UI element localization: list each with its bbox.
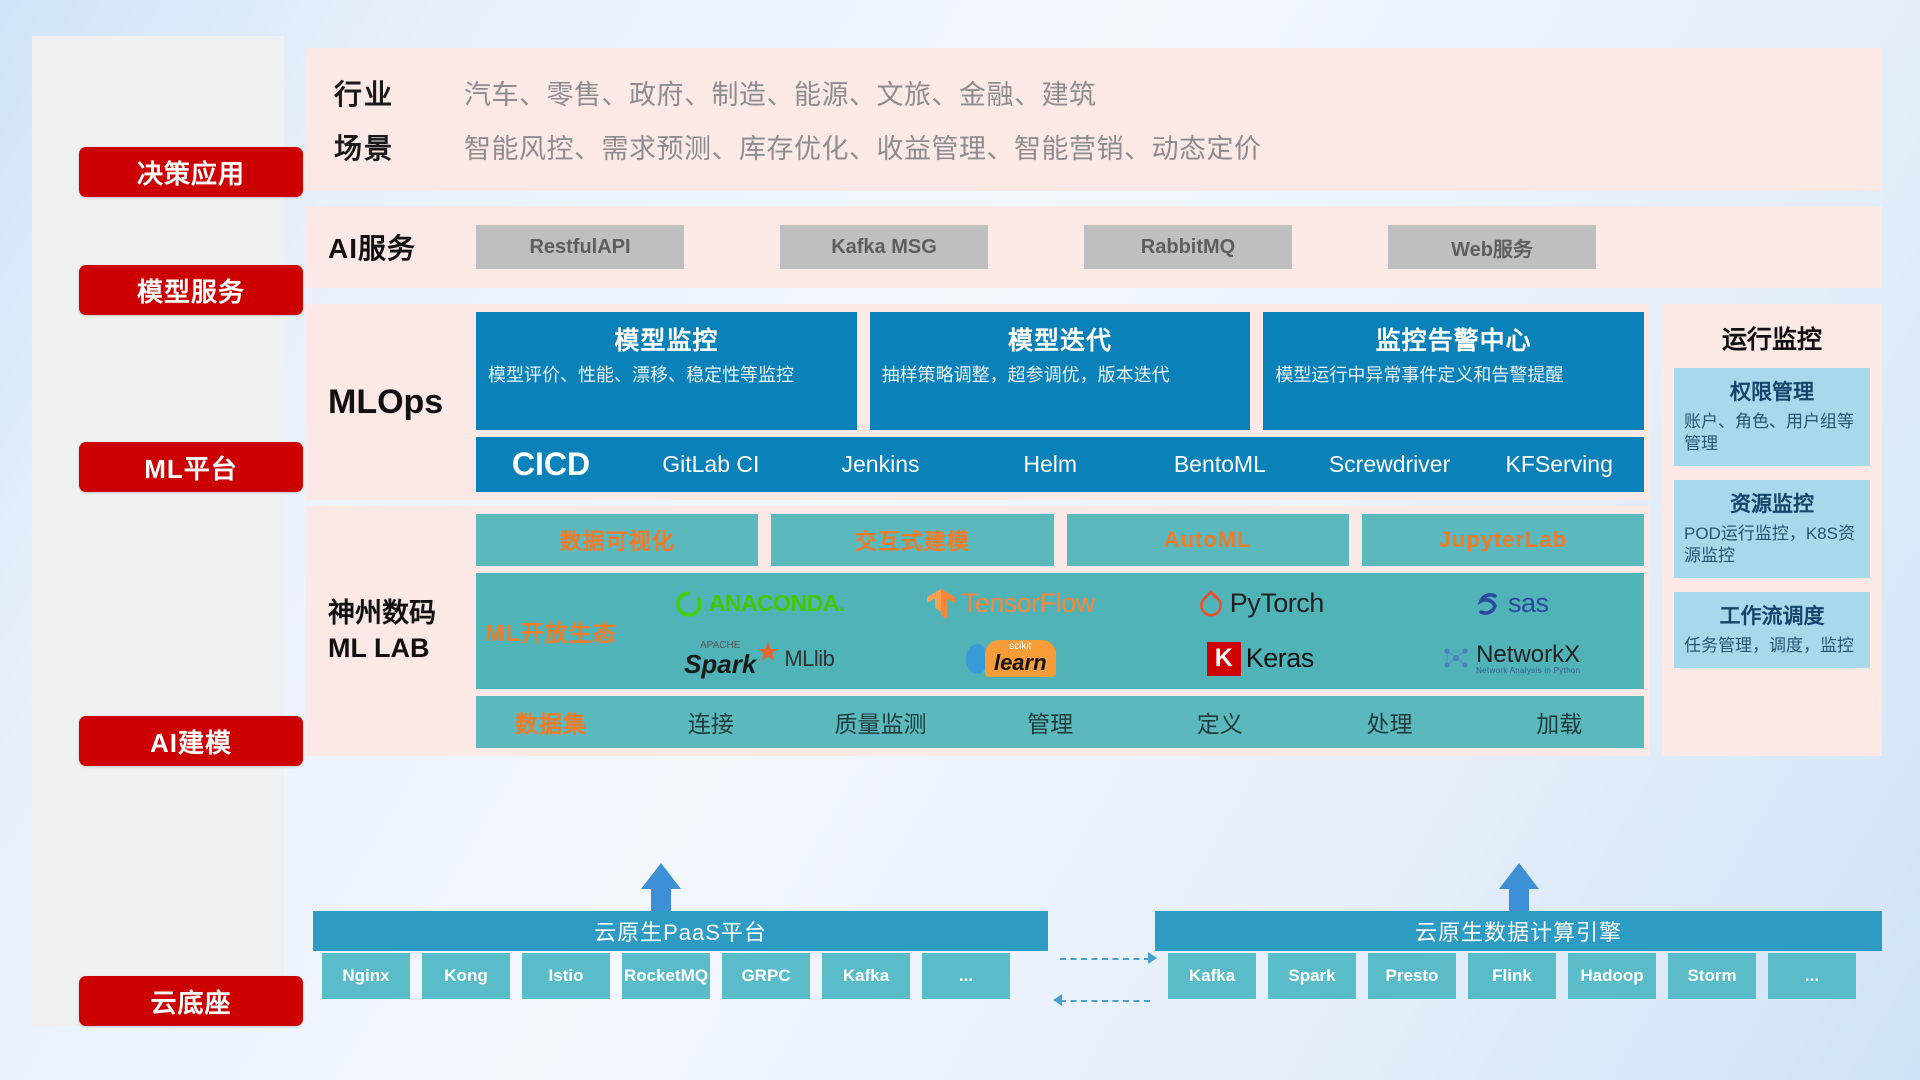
ml-lab-key: 神州数码 ML LAB bbox=[328, 596, 476, 666]
cicd-item-jenkins[interactable]: Jenkins bbox=[796, 452, 966, 476]
keras-logo: K Keras bbox=[1207, 642, 1314, 676]
eco-label: ML开放生态 bbox=[476, 573, 626, 689]
tab-data-visualization[interactable]: 数据可视化 bbox=[476, 514, 758, 566]
card-title: 监控告警中心 bbox=[1376, 321, 1532, 357]
tensorflow-logo: TensorFlow bbox=[925, 587, 1095, 621]
cicd-item-kfserving[interactable]: KFServing bbox=[1474, 452, 1644, 476]
monitoring-card-permission[interactable]: 权限管理 账户、角色、用户组等管理 bbox=[1674, 368, 1870, 466]
card-title: 模型监控 bbox=[614, 321, 718, 357]
dataset-item-process[interactable]: 处理 bbox=[1305, 705, 1475, 739]
ml-lab-content: 数据可视化 交互式建模 AutoML JupyterLab ML开放生态 ANA… bbox=[476, 506, 1650, 756]
paas-tag-more[interactable]: ... bbox=[922, 953, 1010, 999]
ml-lab-band: 神州数码 ML LAB 数据可视化 交互式建模 AutoML JupyterLa… bbox=[306, 506, 1650, 756]
cicd-item-helm[interactable]: Helm bbox=[965, 452, 1135, 476]
ml-lab-key-line1: 神州数码 bbox=[328, 596, 476, 631]
scikit-learn-logo: scikit learn bbox=[964, 640, 1056, 677]
engine-tag-storm[interactable]: Storm bbox=[1668, 953, 1756, 999]
runtime-monitoring-panel: 运行监控 权限管理 账户、角色、用户组等管理 资源监控 POD运行监控，K8S资… bbox=[1662, 304, 1882, 756]
dataset-item-define[interactable]: 定义 bbox=[1135, 705, 1305, 739]
engine-tag-more[interactable]: ... bbox=[1768, 953, 1856, 999]
industry-row: 行业 汽车、零售、政府、制造、能源、文旅、金融、建筑 bbox=[334, 73, 1882, 113]
networkx-logo: NetworkX Network Analysis in Python bbox=[1441, 642, 1580, 676]
card-title: 模型迭代 bbox=[1008, 321, 1112, 357]
engine-tag-flink[interactable]: Flink bbox=[1468, 953, 1556, 999]
connector-right-arrow-icon bbox=[1148, 952, 1157, 964]
industry-key: 行业 bbox=[334, 73, 464, 113]
scenario-key: 场景 bbox=[334, 127, 464, 167]
card-desc: 模型评价、性能、漂移、稳定性等监控 bbox=[488, 363, 845, 387]
engine-tag-kafka[interactable]: Kafka bbox=[1168, 953, 1256, 999]
industry-value: 汽车、零售、政府、制造、能源、文旅、金融、建筑 bbox=[464, 73, 1097, 112]
connector-right bbox=[1060, 958, 1150, 960]
dataset-label: 数据集 bbox=[476, 705, 626, 739]
cicd-item-bentoml[interactable]: BentoML bbox=[1135, 452, 1305, 476]
dataset-item-quality[interactable]: 质量监测 bbox=[796, 705, 966, 739]
dataset-item-manage[interactable]: 管理 bbox=[965, 705, 1135, 739]
paas-tag-rocketmq[interactable]: RocketMQ bbox=[622, 953, 710, 999]
connector-left-arrow-icon bbox=[1053, 994, 1062, 1006]
dataset-row: 数据集 连接 质量监测 管理 定义 处理 加载 bbox=[476, 696, 1644, 748]
paas-tag-istio[interactable]: Istio bbox=[522, 953, 610, 999]
card-desc: 账户、角色、用户组等管理 bbox=[1684, 411, 1860, 455]
paas-platform-label: 云原生PaaS平台 bbox=[594, 915, 767, 947]
paas-tag-kong[interactable]: Kong bbox=[422, 953, 510, 999]
architecture-diagram: 决策应用 模型服务 ML平台 AI建模 云底座 行业 汽车、零售、政府、制造、能… bbox=[0, 0, 1920, 1080]
keras-logo-text: Keras bbox=[1246, 643, 1314, 674]
anaconda-mark-icon bbox=[674, 589, 704, 619]
mllib-logo-text: MLlib bbox=[784, 646, 834, 672]
paas-arrow-icon bbox=[641, 863, 681, 889]
layer-rail: 决策应用 模型服务 ML平台 AI建模 云底座 bbox=[32, 36, 284, 1026]
card-title: 权限管理 bbox=[1730, 376, 1814, 406]
ai-service-chip-web[interactable]: Web服务 bbox=[1388, 225, 1596, 269]
ai-service-items: RestfulAPI Kafka MSG RabbitMQ Web服务 bbox=[476, 225, 1860, 269]
ai-service-chip-rabbitmq[interactable]: RabbitMQ bbox=[1084, 225, 1292, 269]
spark-mllib-logo: APACHE Spark MLlib bbox=[684, 641, 834, 677]
tensorflow-mark-icon bbox=[925, 587, 957, 621]
mlops-key: MLOps bbox=[328, 383, 476, 422]
rail-item-cloud-base[interactable]: 云底座 bbox=[79, 976, 303, 1026]
networkx-logo-subtext: Network Analysis in Python bbox=[1476, 667, 1580, 675]
sas-mark-icon bbox=[1473, 589, 1503, 619]
monitoring-card-workflow[interactable]: 工作流调度 任务管理，调度，监控 bbox=[1674, 592, 1870, 668]
monitoring-title: 运行监控 bbox=[1674, 320, 1870, 356]
dataset-item-load[interactable]: 加载 bbox=[1474, 705, 1644, 739]
engine-tag-presto[interactable]: Presto bbox=[1368, 953, 1456, 999]
card-desc: POD运行监控，K8S资源监控 bbox=[1684, 523, 1860, 567]
paas-platform-bar[interactable]: 云原生PaaS平台 bbox=[313, 911, 1048, 951]
paas-tag-nginx[interactable]: Nginx bbox=[322, 953, 410, 999]
card-desc: 模型运行中异常事件定义和告警提醒 bbox=[1275, 363, 1632, 387]
rail-label: AI建模 bbox=[150, 723, 232, 760]
rail-label: 决策应用 bbox=[137, 154, 245, 191]
cicd-item-gitlab-ci[interactable]: GitLab CI bbox=[626, 452, 796, 476]
card-title: 工作流调度 bbox=[1720, 600, 1825, 630]
pytorch-logo-text: PyTorch bbox=[1230, 588, 1324, 619]
scenario-value: 智能风控、需求预测、库存优化、收益管理、智能营销、动态定价 bbox=[464, 127, 1262, 166]
engine-tag-hadoop[interactable]: Hadoop bbox=[1568, 953, 1656, 999]
anaconda-logo: ANACONDA. bbox=[674, 589, 845, 619]
mlops-content: 模型监控 模型评价、性能、漂移、稳定性等监控 模型迭代 抽样策略调整，超参调优，… bbox=[476, 304, 1650, 500]
dataset-item-connect[interactable]: 连接 bbox=[626, 705, 796, 739]
tab-jupyterlab[interactable]: JupyterLab bbox=[1362, 514, 1644, 566]
data-compute-engine-bar[interactable]: 云原生数据计算引擎 bbox=[1155, 911, 1882, 951]
rail-item-decision-app[interactable]: 决策应用 bbox=[79, 147, 303, 197]
ai-service-band: AI服务 RestfulAPI Kafka MSG RabbitMQ Web服务 bbox=[306, 206, 1882, 288]
tab-interactive-modeling[interactable]: 交互式建模 bbox=[771, 514, 1053, 566]
pytorch-mark-icon bbox=[1197, 589, 1225, 619]
keras-mark-icon: K bbox=[1207, 642, 1241, 676]
keras-mark-letter: K bbox=[1215, 644, 1233, 673]
engine-arrow-icon bbox=[1499, 863, 1539, 889]
card-desc: 任务管理，调度，监控 bbox=[1684, 635, 1860, 657]
anaconda-logo-text: ANACONDA. bbox=[709, 590, 845, 617]
mlops-band: MLOps 模型监控 模型评价、性能、漂移、稳定性等监控 模型迭代 抽样策略调整… bbox=[306, 304, 1650, 500]
ml-lab-tabs: 数据可视化 交互式建模 AutoML JupyterLab bbox=[476, 514, 1644, 566]
connector-left bbox=[1060, 1000, 1150, 1002]
mlops-card-model-iteration[interactable]: 模型迭代 抽样策略调整，超参调优，版本迭代 bbox=[870, 312, 1251, 430]
ai-service-chip-restfulapi[interactable]: RestfulAPI bbox=[476, 225, 684, 269]
card-title: 资源监控 bbox=[1730, 488, 1814, 518]
engine-tag-spark[interactable]: Spark bbox=[1268, 953, 1356, 999]
paas-tag-kafka[interactable]: Kafka bbox=[822, 953, 910, 999]
spark-star-icon bbox=[757, 641, 779, 663]
paas-tag-grpc[interactable]: GRPC bbox=[722, 953, 810, 999]
decision-application-band: 行业 汽车、零售、政府、制造、能源、文旅、金融、建筑 场景 智能风控、需求预测、… bbox=[306, 48, 1882, 191]
learn-label: learn bbox=[994, 652, 1047, 674]
tab-automl[interactable]: AutoML bbox=[1067, 514, 1349, 566]
spark-logo-text: Spark bbox=[684, 651, 756, 677]
rail-label: 云底座 bbox=[150, 983, 231, 1020]
mlops-cards: 模型监控 模型评价、性能、漂移、稳定性等监控 模型迭代 抽样策略调整，超参调优，… bbox=[476, 312, 1644, 430]
ai-service-key: AI服务 bbox=[328, 227, 476, 267]
card-desc: 抽样策略调整，超参调优，版本迭代 bbox=[882, 363, 1239, 387]
eco-logo-grid: ANACONDA. TensorFlow bbox=[626, 573, 1644, 689]
rail-label: 模型服务 bbox=[137, 272, 245, 309]
cicd-title: CICD bbox=[476, 446, 626, 483]
ml-lab-key-line2: ML LAB bbox=[328, 631, 476, 666]
engine-arrow-stem bbox=[1509, 889, 1529, 911]
ml-open-ecosystem: ML开放生态 ANACONDA. bbox=[476, 573, 1644, 689]
engine-tag-row: Kafka Spark Presto Flink Hadoop Storm ..… bbox=[1168, 953, 1856, 999]
sas-logo: sas bbox=[1473, 588, 1549, 619]
cicd-items: GitLab CI Jenkins Helm BentoML Screwdriv… bbox=[626, 452, 1644, 476]
rail-item-ai-modeling[interactable]: AI建模 bbox=[79, 716, 303, 766]
networkx-graph-icon bbox=[1441, 643, 1471, 673]
tensorflow-logo-text: TensorFlow bbox=[962, 588, 1095, 619]
networkx-logo-text: NetworkX bbox=[1476, 642, 1580, 667]
mlops-card-model-monitoring[interactable]: 模型监控 模型评价、性能、漂移、稳定性等监控 bbox=[476, 312, 857, 430]
monitoring-card-resource[interactable]: 资源监控 POD运行监控，K8S资源监控 bbox=[1674, 480, 1870, 578]
ai-service-chip-kafka-msg[interactable]: Kafka MSG bbox=[780, 225, 988, 269]
rail-item-ml-platform[interactable]: ML平台 bbox=[79, 442, 303, 492]
mlops-card-alert-center[interactable]: 监控告警中心 模型运行中异常事件定义和告警提醒 bbox=[1263, 312, 1644, 430]
rail-label: ML平台 bbox=[144, 449, 238, 486]
dataset-items: 连接 质量监测 管理 定义 处理 加载 bbox=[626, 705, 1644, 739]
data-compute-engine-label: 云原生数据计算引擎 bbox=[1415, 915, 1622, 947]
cicd-bar: CICD GitLab CI Jenkins Helm BentoML Scre… bbox=[476, 437, 1644, 492]
paas-arrow-stem bbox=[651, 889, 671, 911]
sas-logo-text: sas bbox=[1508, 588, 1549, 619]
rail-item-model-service[interactable]: 模型服务 bbox=[79, 265, 303, 315]
pytorch-logo: PyTorch bbox=[1197, 588, 1324, 619]
scenario-row: 场景 智能风控、需求预测、库存优化、收益管理、智能营销、动态定价 bbox=[334, 127, 1882, 167]
paas-tag-row: Nginx Kong Istio RocketMQ GRPC Kafka ... bbox=[322, 953, 1010, 999]
cicd-item-screwdriver[interactable]: Screwdriver bbox=[1305, 452, 1475, 476]
scikit-learn-badge: scikit learn bbox=[985, 640, 1056, 677]
